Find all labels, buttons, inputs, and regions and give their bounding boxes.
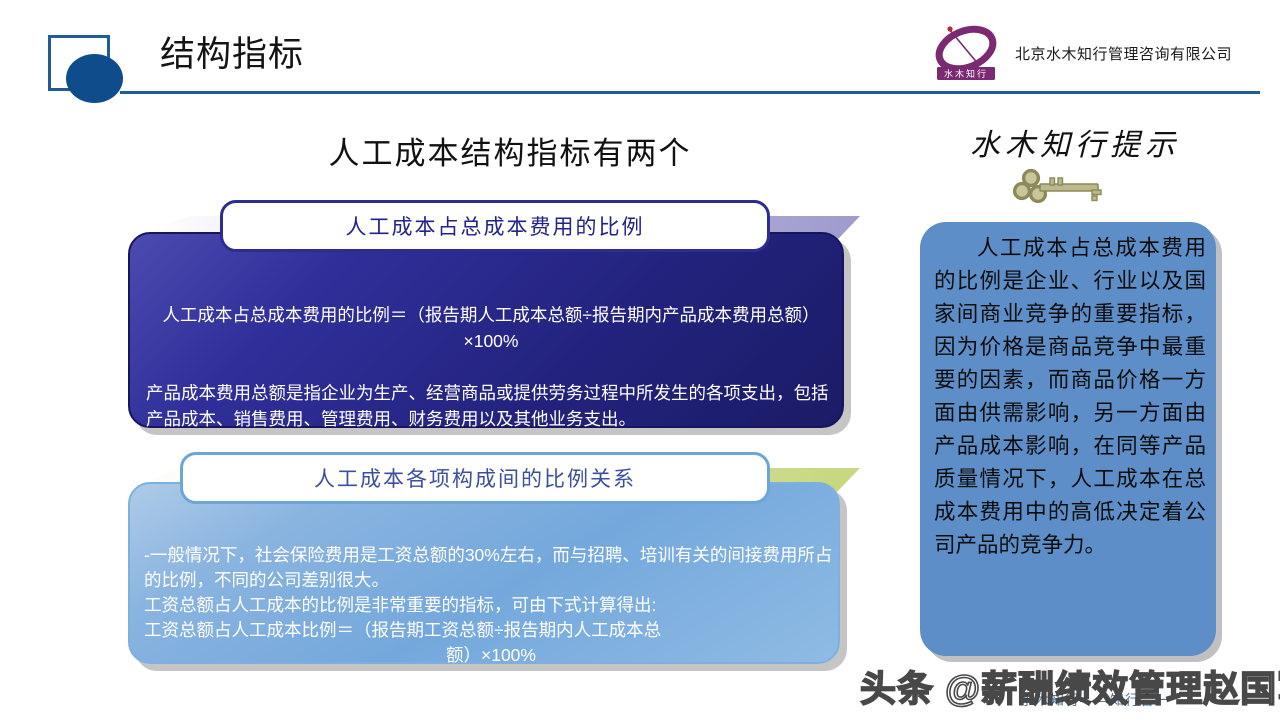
company-name: 北京水木知行管理咨询有限公司 <box>1015 43 1232 64</box>
card-1-title: 人工成本占总成本费用的比例 <box>220 200 770 252</box>
card-2-description: -一般情况下，社会保险费用是工资总额的30%左右，而与招聘、培训有关的间接费用所… <box>144 545 832 640</box>
card-1-content: 人工成本占总成本费用的比例＝（报告期人工成本总额÷报告期内产品成本费用总额）×1… <box>146 276 836 458</box>
header-divider <box>120 91 1260 94</box>
slide-header: 结构指标 水木知行 北京水木知行管理咨询有限公司 <box>0 0 1280 105</box>
card-1-formula: 人工成本占总成本费用的比例＝（报告期人工成本总额÷报告期内产品成本费用总额）×1… <box>146 302 836 354</box>
watermark-text: 头条 @薪酬绩效管理赵国军 <box>860 660 1280 712</box>
info-card-2: 人工成本各项构成间的比例关系 -一般情况下，社会保险费用是工资总额的30%左右，… <box>128 452 858 667</box>
tip-heading: 水木知行提示 <box>920 120 1230 164</box>
main-heading: 人工成本结构指标有两个 <box>160 128 860 173</box>
tip-card-text: 人工成本占总成本费用的比例是企业、行业以及国家间商业竞争的重要指标，因为价格是商… <box>934 232 1206 562</box>
page-title: 结构指标 <box>160 26 304 77</box>
card-2-title: 人工成本各项构成间的比例关系 <box>180 452 770 504</box>
svg-text:水木知行: 水木知行 <box>944 68 988 79</box>
card-2-formula-tail: 额）×100% <box>144 643 838 668</box>
company-logo-icon: 水木知行 <box>927 23 1005 83</box>
key-icon <box>1010 168 1110 212</box>
info-card-1: 人工成本占总成本费用的比例 人工成本占总成本费用的比例＝（报告期人工成本总额÷报… <box>128 200 858 435</box>
filled-circle-icon <box>66 54 123 103</box>
card-1-description: 产品成本费用总额是指企业为生产、经营商品或提供劳务过程中所发生的各项支出，包括产… <box>146 380 836 432</box>
brand-block: 水木知行 北京水木知行管理咨询有限公司 <box>927 22 1232 84</box>
card-2-content: -一般情况下，社会保险费用是工资总额的30%左右，而与招聘、培训有关的间接费用所… <box>144 518 838 693</box>
